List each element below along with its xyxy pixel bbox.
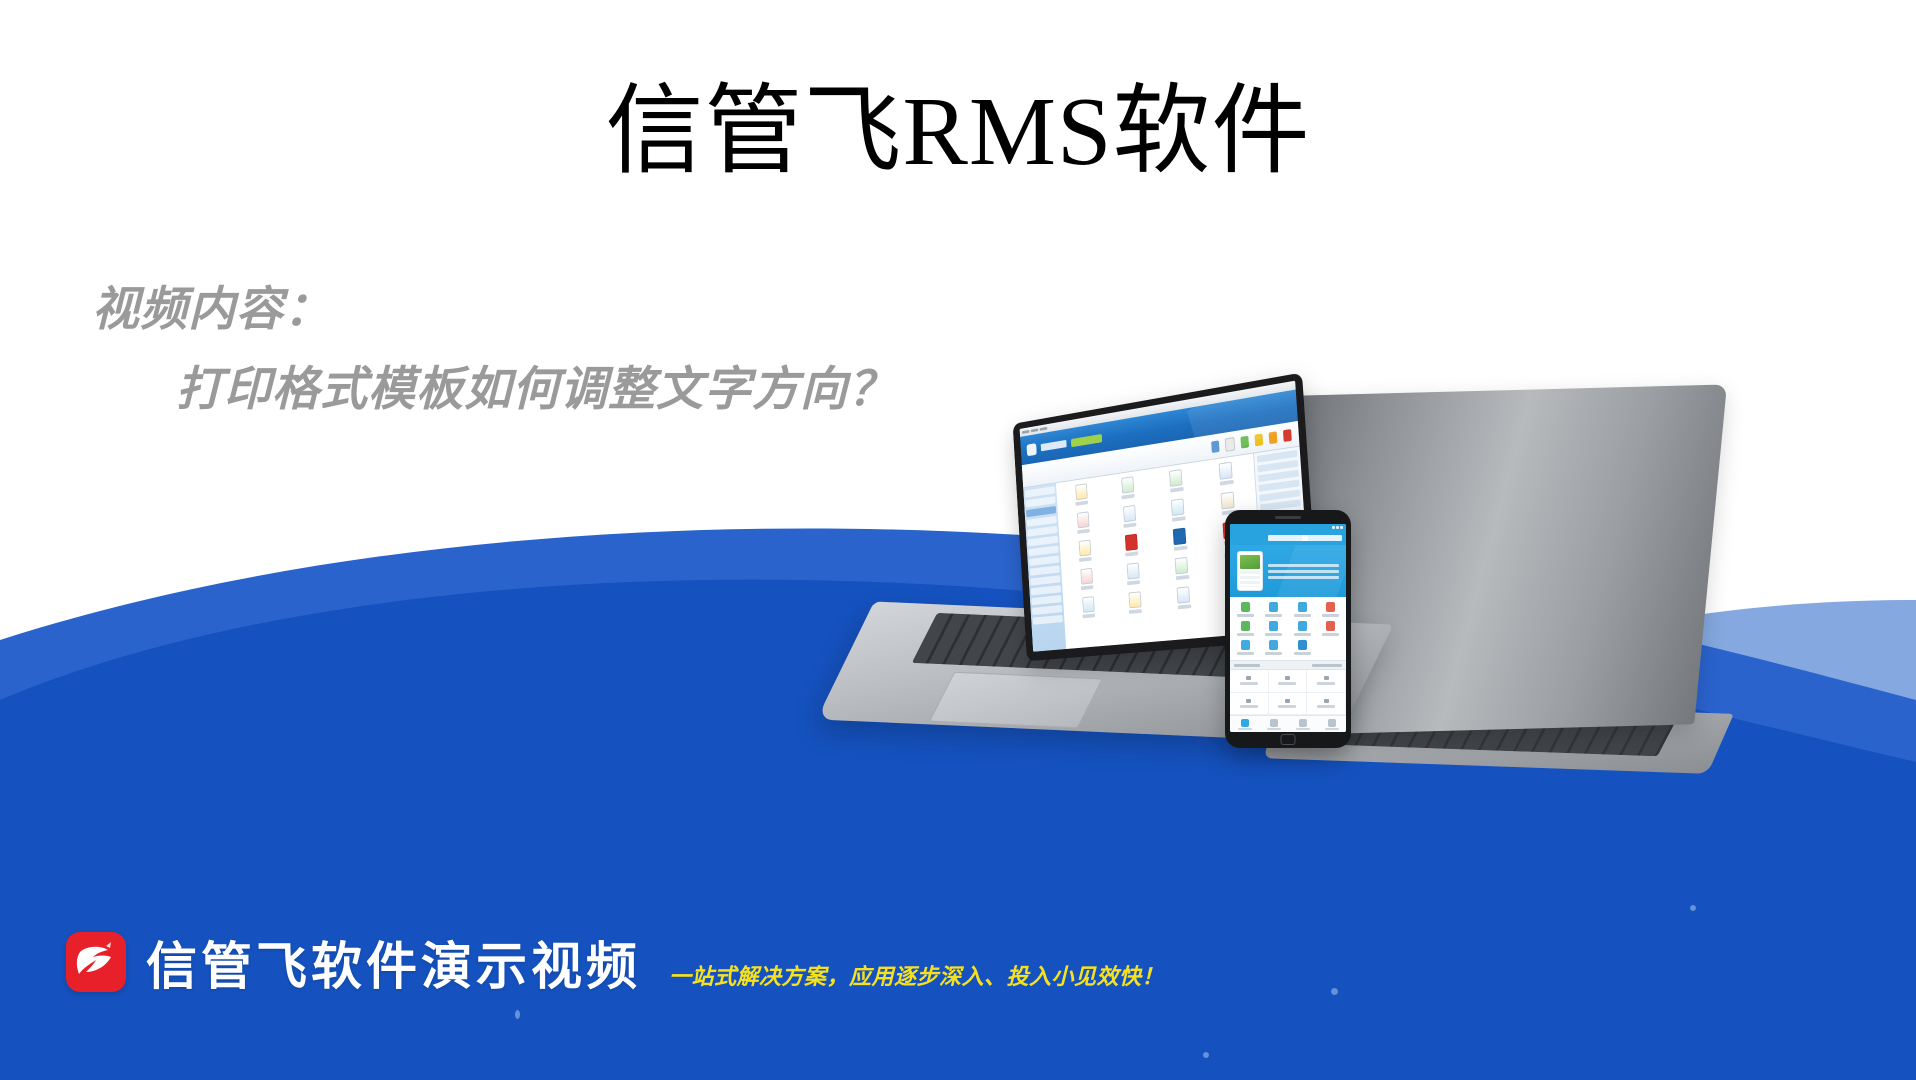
feiyang-bird-logo-icon (66, 932, 126, 992)
phone-module-icon (1289, 640, 1316, 655)
phone-hero-banner (1230, 545, 1346, 597)
brand-tagline: 一站式解决方案，应用逐步深入、投入小见效快！ (669, 959, 1164, 991)
phone-section-header (1230, 660, 1346, 670)
video-content-block: 视频内容： 打印格式模板如何调整文字方向？ (92, 282, 896, 416)
phone-module-icon (1317, 621, 1344, 636)
banner-phone-illustration (1237, 551, 1263, 591)
phone-module-icon (1260, 602, 1287, 617)
app-grid-icon (1154, 496, 1202, 528)
phone-module-icon (1260, 640, 1287, 655)
signal-icon (1332, 526, 1335, 529)
device-illustration-group (880, 370, 1916, 930)
phone-nav-report (1288, 716, 1317, 732)
phone-stat-cell (1269, 670, 1308, 693)
phone-nav-profile (1317, 716, 1346, 732)
app-grid-icon (1107, 503, 1154, 534)
sidebar-item (1031, 595, 1061, 605)
smartphone-device (1225, 510, 1351, 748)
app-tagline-placeholder (1071, 433, 1102, 446)
brand-bar: 信管飞软件演示视频 一站式解决方案，应用逐步深入、投入小见效快！ (66, 925, 1164, 999)
menu-item-placeholder (1040, 427, 1048, 431)
section-title-placeholder (1234, 664, 1260, 667)
app-grid-icon (1066, 595, 1111, 624)
banner-text-placeholder (1268, 564, 1339, 579)
sidebar-item (1028, 545, 1058, 556)
slide-title: 信管飞RMS软件 (0, 78, 1916, 188)
app-grid-icon (1201, 459, 1251, 492)
presentation-slide: 信管飞RMS软件 视频内容： 打印格式模板如何调整文字方向？ (0, 0, 1916, 1080)
phone-module-grid (1230, 597, 1346, 660)
sparkle-dot (515, 1010, 520, 1019)
laptop-front-trackpad (929, 672, 1103, 729)
phone-speaker-icon (1275, 516, 1301, 519)
app-grid-icon (1158, 555, 1207, 586)
phone-module-icon (1232, 602, 1259, 617)
phone-stat-cell (1230, 693, 1269, 716)
phone-module-icon (1317, 602, 1344, 617)
battery-icon (1340, 526, 1343, 529)
sidebar-item (1031, 585, 1061, 595)
app-grid-icon (1112, 590, 1159, 620)
phone-app-header (1230, 531, 1346, 545)
menu-item-placeholder (1022, 430, 1030, 434)
sidebar-item (1029, 555, 1059, 566)
app-grid-icon (1160, 585, 1209, 615)
sidebar-item (1030, 565, 1060, 576)
app-grid-icon (1063, 538, 1108, 568)
sparkle-dot (1331, 988, 1338, 995)
brand-title: 信管飞软件演示视频 (146, 925, 641, 999)
section-filter-placeholder (1312, 664, 1342, 667)
app-grid-icon (1108, 532, 1155, 562)
phone-stats-grid (1230, 670, 1346, 715)
phone-home-button (1281, 734, 1296, 745)
video-content-label: 视频内容： (92, 282, 896, 336)
sparkle-dot (1203, 1052, 1209, 1058)
phone-screen (1230, 524, 1346, 732)
wifi-icon (1336, 526, 1339, 529)
app-grid-icon (1105, 474, 1152, 505)
phone-module-icon (1232, 640, 1259, 655)
app-grid-icon (1152, 467, 1200, 499)
toolbar-icon (1283, 428, 1292, 441)
sidebar-item (1032, 605, 1062, 615)
phone-stat-cell (1307, 670, 1346, 693)
app-grid-icon (1156, 525, 1204, 556)
app-grid-icon (1064, 566, 1109, 595)
phone-module-icon (1289, 602, 1316, 617)
sidebar-item (1033, 615, 1063, 625)
app-grid-icon (1061, 509, 1106, 539)
phone-module-icon (1232, 621, 1259, 636)
phone-bottom-nav (1230, 715, 1346, 732)
hamburger-menu-icon (1302, 535, 1342, 541)
app-grid-icon (1059, 481, 1104, 512)
sidebar-item (1030, 575, 1060, 586)
app-logo-icon (1026, 443, 1036, 456)
phone-module-icon (1289, 621, 1316, 636)
phone-stat-cell (1230, 670, 1269, 693)
phone-nav-scan (1259, 716, 1288, 732)
phone-stat-cell (1269, 693, 1308, 716)
phone-status-bar (1230, 524, 1346, 531)
phone-stat-cell (1307, 693, 1346, 716)
phone-module-icon (1260, 621, 1287, 636)
menu-item-placeholder (1031, 428, 1039, 432)
phone-nav-home (1230, 716, 1259, 732)
sidebar-item (1028, 536, 1058, 547)
app-grid-icon (1110, 561, 1157, 591)
video-content-topic: 打印格式模板如何调整文字方向？ (176, 362, 896, 416)
app-name-placeholder (1041, 440, 1067, 451)
